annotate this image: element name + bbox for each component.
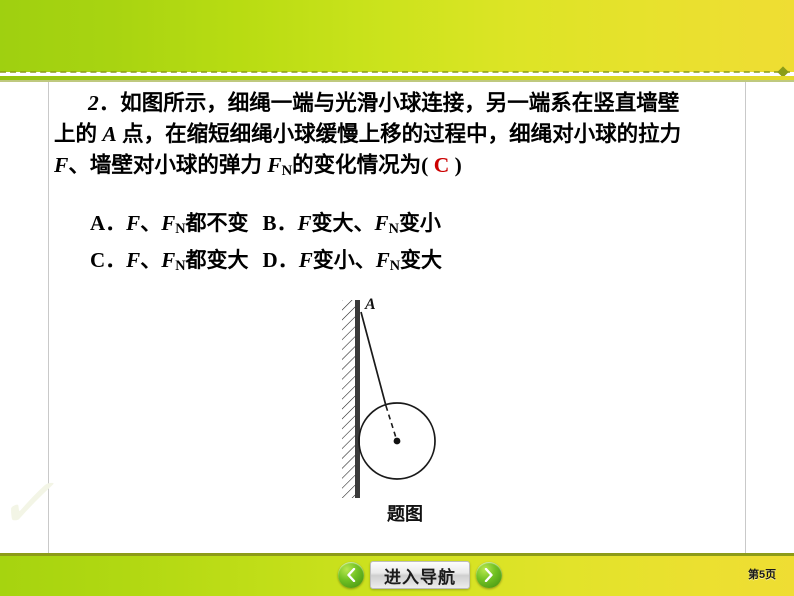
- option-c-sep: 、: [140, 248, 161, 272]
- page-margin-rule-right: [745, 82, 746, 553]
- option-d-text-2: 变大: [400, 248, 442, 272]
- string-line: [361, 312, 386, 406]
- previous-button[interactable]: [338, 562, 364, 588]
- chevron-left-icon: [345, 568, 357, 582]
- header-dash-rule: [0, 71, 790, 73]
- question-number: 2: [88, 91, 99, 115]
- question-stem: 2．如图所示，细绳一端与光滑小球连接，另一端系在竖直墙壁 上的 A 点，在缩短细…: [54, 88, 742, 187]
- option-a-symbol-FN-subscript: N: [175, 221, 185, 237]
- option-a-sep: 、: [140, 211, 161, 235]
- option-c[interactable]: C．F、FN都变大: [90, 248, 249, 272]
- physics-figure: A: [330, 292, 480, 528]
- option-row-ab: A．F、FN都不变B．F变大、FN变小: [54, 208, 742, 245]
- figure-svg: [330, 292, 480, 528]
- symbol-F: F: [54, 153, 68, 177]
- option-c-symbol-FN: F: [161, 248, 175, 272]
- enter-navigation-label: 进入导航: [384, 563, 456, 588]
- question-line-2: 上的 A 点，在缩短细绳小球缓慢上移的过程中，细绳对小球的拉力: [54, 119, 742, 150]
- answer-marker: C: [434, 153, 450, 177]
- answer-options: A．F、FN都不变B．F变大、FN变小 C．F、FN都变大D．F变小、FN变大: [54, 208, 742, 282]
- page-watermark: ✓: [0, 470, 42, 540]
- option-b[interactable]: B．F变大、FN变小: [263, 211, 441, 235]
- option-a-label: A．: [90, 211, 126, 235]
- option-d[interactable]: D．F变小、FN变大: [263, 248, 443, 272]
- enter-navigation-button[interactable]: 进入导航: [370, 561, 470, 589]
- option-a[interactable]: A．F、FN都不变: [90, 211, 249, 235]
- option-c-symbol-F: F: [126, 248, 140, 272]
- slide-root: ✓ 2．如图所示，细绳一端与光滑小球连接，另一端系在竖直墙壁 上的 A 点，在缩…: [0, 0, 794, 596]
- option-c-text: 都变大: [186, 248, 249, 272]
- option-d-symbol-F: F: [299, 248, 313, 272]
- option-d-label: D．: [263, 248, 299, 272]
- figure-caption: 题图: [330, 500, 480, 526]
- symbol-FN-subscript: N: [282, 163, 293, 179]
- header-band: [0, 0, 794, 72]
- option-c-symbol-FN-subscript: N: [175, 258, 185, 274]
- option-a-symbol-FN: F: [161, 211, 175, 235]
- next-button[interactable]: [476, 562, 502, 588]
- option-row-cd: C．F、FN都变大D．F变小、FN变大: [54, 245, 742, 282]
- question-line-2-text-a: 上的: [54, 122, 102, 146]
- question-line-3-text-c: ): [455, 153, 462, 177]
- question-line-2-text-b: 点，在缩短细绳小球缓慢上移的过程中，细绳对小球的拉力: [117, 122, 681, 146]
- question-line-1: 2．如图所示，细绳一端与光滑小球连接，另一端系在竖直墙壁: [54, 88, 742, 119]
- option-b-symbol-FN-subscript: N: [389, 221, 399, 237]
- option-a-symbol-F: F: [126, 211, 140, 235]
- figure-point-label-a: A: [365, 296, 376, 314]
- option-b-label: B．: [263, 211, 298, 235]
- option-d-text-1: 变小、: [313, 248, 376, 272]
- question-line-1-text: 如图所示，细绳一端与光滑小球连接，另一端系在竖直墙壁: [120, 91, 679, 115]
- page-number-badge: 第5页: [748, 566, 776, 582]
- question-line-3-text-b: 的变化情况为(: [292, 153, 428, 177]
- option-b-symbol-F: F: [298, 211, 312, 235]
- question-number-dot: ．: [99, 91, 121, 115]
- option-b-text-1: 变大、: [312, 211, 375, 235]
- option-c-label: C．: [90, 248, 126, 272]
- chevron-right-icon: [483, 568, 495, 582]
- wall-hatching: [342, 300, 355, 498]
- string-extension-dashed: [386, 406, 397, 441]
- option-d-symbol-FN-subscript: N: [390, 258, 400, 274]
- option-b-text-2: 变小: [399, 211, 441, 235]
- option-b-symbol-FN: F: [375, 211, 389, 235]
- navigation-controls: 进入导航: [338, 560, 502, 590]
- ball-center-dot: [394, 438, 401, 445]
- option-a-text: 都不变: [186, 211, 249, 235]
- question-line-3-text-a: 、墙壁对小球的弹力: [68, 153, 267, 177]
- question-point-a: A: [102, 122, 116, 146]
- wall-face: [355, 300, 360, 498]
- symbol-FN: F: [267, 153, 281, 177]
- option-d-symbol-FN: F: [376, 248, 390, 272]
- question-line-3: F、墙壁对小球的弹力 FN的变化情况为( C ): [54, 150, 742, 187]
